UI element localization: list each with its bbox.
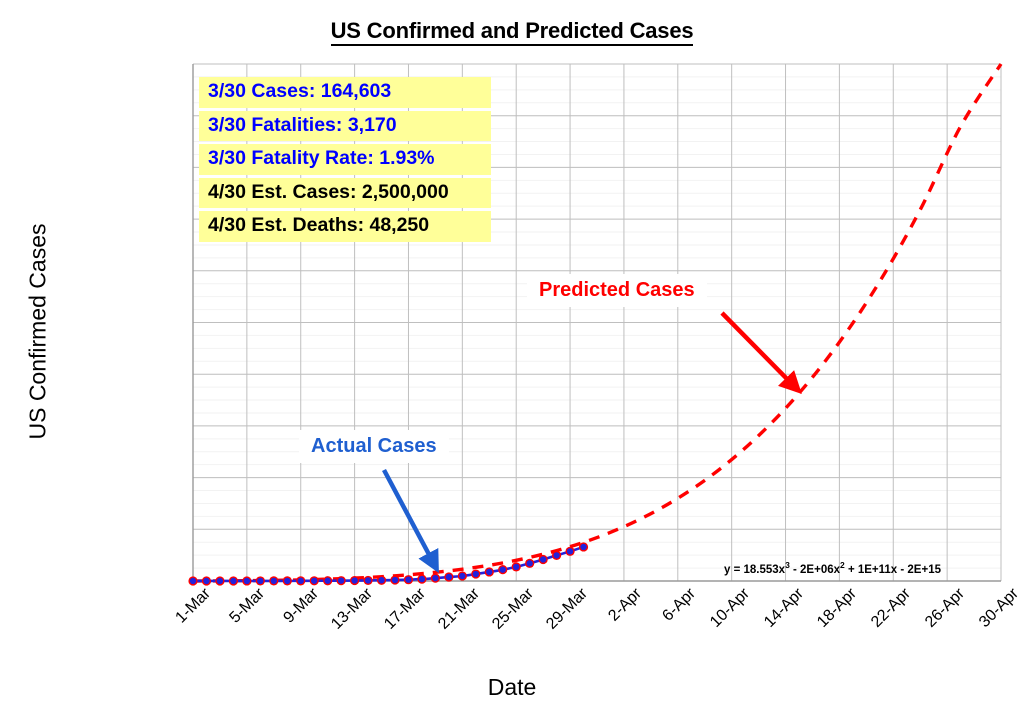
trendline-equation-prefix: y = 18.553x [724, 564, 785, 576]
x-axis-tick-label: 17-Mar [382, 585, 431, 634]
x-axis-tick-label: 10-Apr [707, 585, 754, 632]
chart-title-text: US Confirmed and Predicted Cases [331, 18, 694, 46]
x-axis-tick-label: 9-Mar [280, 585, 322, 627]
x-axis-tick-label: 13-Mar [328, 585, 377, 634]
info-box-row: 3/30 Cases: 164,603 [199, 77, 491, 108]
trendline-equation-mid: - 2E+06x [790, 564, 840, 576]
x-axis-tick-label: 5-Mar [226, 585, 268, 627]
summary-info-box: 3/30 Cases: 164,6033/30 Fatalities: 3,17… [199, 77, 491, 245]
x-axis-tick-label: 1-Mar [172, 585, 214, 627]
x-axis-tick-labels: 1-Mar5-Mar9-Mar13-Mar17-Mar21-Mar25-Mar2… [193, 585, 1001, 675]
x-axis-tick-label: 30-Apr [976, 585, 1023, 632]
x-axis-tick-label: 6-Apr [659, 585, 699, 625]
x-axis-title: Date [0, 674, 1024, 701]
info-box-row: 4/30 Est. Deaths: 48,250 [199, 211, 491, 242]
y-axis-title: US Confirmed Cases [25, 162, 52, 502]
x-axis-tick-label: 21-Mar [435, 585, 484, 634]
x-axis-tick-label: 18-Apr [814, 585, 861, 632]
x-axis-tick-label: 25-Mar [489, 585, 538, 634]
chart-title: US Confirmed and Predicted Cases [0, 18, 1024, 44]
x-axis-tick-label: 2-Apr [605, 585, 645, 625]
info-box-row: 3/30 Fatality Rate: 1.93% [199, 144, 491, 175]
trendline-equation: y = 18.553x3 - 2E+06x2 + 1E+11x - 2E+15 [724, 560, 941, 576]
callout-predicted-cases-label: Predicted Cases [539, 279, 695, 301]
info-box-row: 4/30 Est. Cases: 2,500,000 [199, 178, 491, 209]
callout-actual-cases-label: Actual Cases [311, 435, 437, 457]
x-axis-tick-label: 22-Apr [868, 585, 915, 632]
callout-actual-cases: Actual Cases [299, 430, 449, 463]
callout-predicted-cases: Predicted Cases [527, 274, 707, 307]
x-axis-tick-label: 14-Apr [761, 585, 808, 632]
x-axis-tick-label: 29-Mar [543, 585, 592, 634]
x-axis-tick-label: 26-Apr [922, 585, 969, 632]
info-box-row: 3/30 Fatalities: 3,170 [199, 111, 491, 142]
trendline-equation-suffix: + 1E+11x - 2E+15 [845, 564, 941, 576]
